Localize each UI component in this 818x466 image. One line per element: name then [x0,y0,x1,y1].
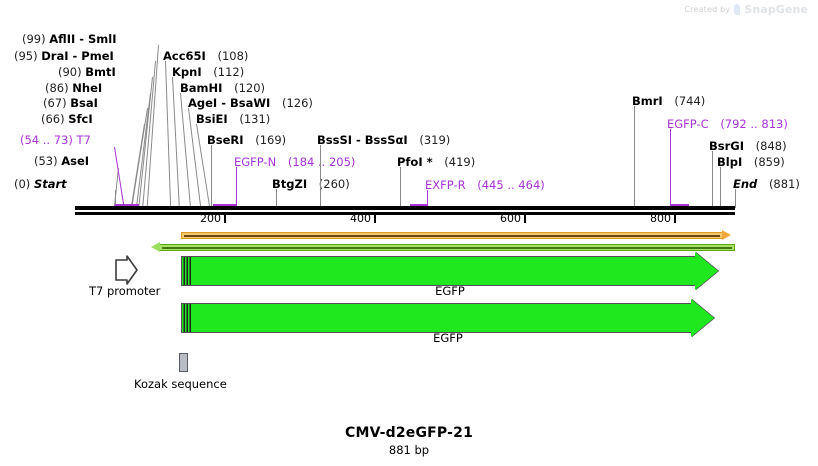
label-exfp-r-primer[interactable]: EXFP-R (445 .. 464) [425,178,545,192]
orange-arrow-head-icon [722,230,731,240]
label-bamhi[interactable]: BamHI (120) [180,81,265,95]
label-agei-bsawi[interactable]: AgeI - BsaWI (126) [188,96,313,110]
label-drai-pmei[interactable]: (95) DraI - PmeI [14,49,114,63]
label-position: (744) [674,94,705,108]
label-name: AflII - SmlI [49,32,116,46]
snapgene-watermark: Created by SnapGene [684,3,808,16]
egfp-gene-arrow-top[interactable] [181,256,719,286]
light-green-arrow-inner-line [162,247,732,249]
label-end[interactable]: End (881) [733,177,800,191]
label-t7-primer[interactable]: (54 .. 73) T7 [20,133,91,147]
label-name: BsrGI [709,139,744,153]
label-name: AgeI - BsaWI [188,96,270,110]
ruler-tick-200 [224,214,226,223]
leader-line-pfoi [400,167,401,208]
label-position: (54 .. 73) [20,133,73,147]
label-nhei[interactable]: (86) NheI [45,81,102,95]
label-name: Start [34,177,67,191]
leader-line-bsssi [320,145,321,208]
label-position: (445 .. 464) [477,178,545,192]
label-name: BsaI [70,96,98,110]
leader-line-egfp-c [670,129,671,208]
kozak-sequence-label: Kozak sequence [134,377,227,391]
map-size-bp: 881 bp [0,443,818,457]
label-start[interactable]: (0) Start [14,177,67,191]
label-bsiei[interactable]: BsiEI (131) [196,112,270,126]
label-position: (859) [754,155,785,169]
label-name: BmtI [85,65,116,79]
leader-line-bmri [634,106,635,208]
label-aflii-smli[interactable]: (99) AflII - SmlI [22,32,117,46]
egfp-bottom-arrow-body [181,303,693,333]
label-position: (881) [769,177,800,191]
label-bsrgi[interactable]: BsrGI (848) [709,139,787,153]
leader-line-bsrgi [712,151,713,208]
label-bsssi-bsssai[interactable]: BssSI - BssSαI (319) [317,133,450,147]
label-name: DraI - PmeI [41,49,114,63]
label-name: BamHI [180,81,222,95]
egfp-gene-arrow-bottom[interactable] [181,303,715,333]
egfp-top-arrow-body [181,256,697,286]
light-green-arrow-head-icon [151,242,160,252]
sequence-ruler-bottom-line [75,212,735,215]
label-blpi[interactable]: BlpI (859) [717,155,785,169]
label-name: EXFP-R [425,178,466,192]
label-name: T7 [77,133,91,147]
snapgene-logo-icon [734,4,740,15]
leader-line-bseri [211,145,212,207]
label-asei[interactable]: (53) AseI [34,154,89,168]
label-name: BsiEI [196,112,228,126]
label-name: Acc65I [163,49,206,63]
label-name: End [733,177,757,191]
leader-line-end [735,189,736,208]
egfp-gene-label-bottom: EGFP [181,331,715,345]
kozak-sequence-box-icon[interactable] [179,353,188,372]
watermark-brand: SnapGene [744,3,808,16]
ruler-tick-label-800: 800 [650,212,671,225]
label-position: (53) [34,154,58,168]
ruler-tick-label-400: 400 [350,212,371,225]
label-name: NheI [72,81,102,95]
label-bsai[interactable]: (67) BsaI [43,96,98,110]
label-position: (319) [419,133,450,147]
label-position: (66) [41,112,65,126]
label-egfp-c-primer[interactable]: EGFP-C (792 .. 813) [667,117,788,131]
label-name: EGFP-C [667,117,709,131]
leader-line-blpi [720,167,721,208]
watermark-created-by: Created by [684,5,730,14]
label-position: (419) [444,155,475,169]
label-name: PfoI * [397,155,433,169]
egfp-top-hatch-region [182,257,191,285]
egfp-bottom-hatch-region [182,304,191,332]
label-position: (169) [255,133,286,147]
leader-line-kpni [172,77,180,208]
label-position: (112) [213,65,244,79]
label-position: (126) [282,96,313,110]
label-btgzi[interactable]: BtgZI (260) [272,177,350,191]
egfp-gene-label-top: EGFP [181,284,719,298]
label-acc65i[interactable]: Acc65I (108) [163,49,248,63]
ruler-tick-800 [674,214,676,223]
label-name: BmrI [632,94,663,108]
label-kpni[interactable]: KpnI (112) [172,65,244,79]
label-position: (86) [45,81,69,95]
label-name: EGFP-N [234,155,276,169]
label-position: (260) [319,177,350,191]
label-bmti[interactable]: (90) BmtI [58,65,116,79]
label-position: (90) [58,65,82,79]
label-position: (99) [22,32,46,46]
label-position: (848) [756,139,787,153]
label-egfp-n-primer[interactable]: EGFP-N (184 .. 205) [234,155,355,169]
label-name: BseRI [207,133,244,147]
label-position: (120) [234,81,265,95]
label-name: BssSI - BssSαI [317,133,408,147]
label-name: SfcI [68,112,92,126]
label-name: BtgZI [272,177,307,191]
ruler-tick-600 [524,214,526,223]
ruler-tick-label-200: 200 [200,212,221,225]
leader-line-acc65i [165,61,171,208]
label-pfoi[interactable]: PfoI * (419) [397,155,475,169]
label-position: (95) [14,49,38,63]
orange-arrow-inner-line [184,235,720,237]
label-position: (0) [14,177,30,191]
orange-direction-arrow[interactable] [181,232,730,239]
label-position: (792 .. 813) [720,117,788,131]
label-name: KpnI [172,65,202,79]
label-sfci[interactable]: (66) SfcI [41,112,93,126]
label-bseri[interactable]: BseRI (169) [207,133,286,147]
ruler-tick-label-600: 600 [500,212,521,225]
map-title: CMV-d2eGFP-21 [0,425,818,441]
leader-line-egfp-n [236,167,237,208]
label-position: (108) [217,49,248,63]
label-position: (184 .. 205) [288,155,356,169]
ruler-tick-400 [374,214,376,223]
label-position: (67) [43,96,67,110]
sequence-ruler-top-line [75,206,735,210]
label-position: (131) [239,112,270,126]
label-name: AseI [61,154,89,168]
label-bmri[interactable]: BmrI (744) [632,94,705,108]
t7-promoter-label: T7 promoter [89,284,160,298]
light-green-direction-arrow[interactable] [152,244,735,251]
